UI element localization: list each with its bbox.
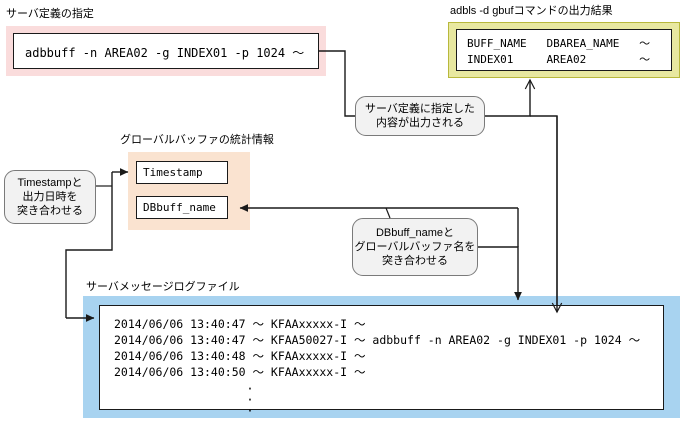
log-line: 2014/06/06 13:40:50 ～ KFAAxxxxx-I ～ — [114, 364, 640, 380]
log-line: 2014/06/06 13:40:47 ～ KFAAxxxxx-I ～ — [114, 316, 640, 332]
adbls-output-data-row: INDEX01 AREA02 ～ — [467, 51, 650, 67]
callout-server-def-output-line2: 内容が出力される — [376, 116, 464, 130]
server-definition-command: adbbuff -n AREA02 -g INDEX01 -p 1024 ～ — [25, 44, 304, 61]
ellipsis-dot: · — [237, 406, 263, 417]
gbuf-stats-timestamp-label: Timestamp — [143, 166, 203, 179]
callout-timestamp-match-line2: 出力日時を — [23, 190, 78, 204]
server-definition-box: adbbuff -n AREA02 -g INDEX01 -p 1024 ～ — [13, 33, 319, 69]
gbuf-stats-dbbuff-name-label: DBbuff_name — [143, 201, 216, 214]
callout-dbbuff-match-line1: DBbuff_nameと — [376, 226, 454, 240]
server-log-caption: サーバメッセージログファイル — [86, 281, 240, 294]
gbuf-stats-caption: グローバルバッファの統計情報 — [120, 134, 274, 147]
adbls-output-header-row: BUFF_NAME DBAREA_NAME ～ — [467, 35, 650, 51]
callout-timestamp-match-line3: 突き合わせる — [17, 204, 83, 218]
connector-log-to-adbls-riser — [530, 116, 557, 306]
gbuf-stats-dbbuff-name-box: DBbuff_name — [136, 196, 228, 219]
server-definition-caption: サーバ定義の指定 — [6, 8, 94, 21]
callout-timestamp-match: Timestampと 出力日時を 突き合わせる — [4, 170, 96, 224]
callout-dbbuff-match-line2: グローバルバッファ名を — [355, 240, 476, 254]
adbls-output-box: BUFF_NAME DBAREA_NAME ～ INDEX01 AREA02 ～ — [456, 29, 672, 71]
adbls-output-caption: adbls -d gbufコマンドの出力結果 — [450, 5, 613, 18]
callout-server-def-output-line1: サーバ定義に指定した — [365, 102, 475, 116]
server-log-continuation-ellipsis: · · · — [237, 384, 263, 417]
server-log-box: 2014/06/06 13:40:47 ～ KFAAxxxxx-I ～ 2014… — [99, 305, 664, 410]
callout-dbbuff-tail — [386, 208, 390, 218]
callout-timestamp-match-line1: Timestampと — [18, 176, 83, 190]
gbuf-stats-timestamp-box: Timestamp — [136, 161, 228, 184]
connector-callout-to-adbls — [485, 80, 530, 116]
callout-dbbuff-match: DBbuff_nameと グローバルバッファ名を 突き合わせる — [352, 218, 478, 276]
log-line: 2014/06/06 13:40:47 ～ KFAA50027-I ～ adbb… — [114, 332, 640, 348]
server-log-lines: 2014/06/06 13:40:47 ～ KFAAxxxxx-I ～ 2014… — [114, 316, 640, 380]
diagram-canvas: サーバ定義の指定 adbbuff -n AREA02 -g INDEX01 -p… — [0, 0, 687, 427]
connector-dbbuff-callout-to-log — [478, 247, 518, 300]
log-line: 2014/06/06 13:40:48 ～ KFAAxxxxx-I ～ — [114, 348, 640, 364]
callout-dbbuff-match-line3: 突き合わせる — [382, 254, 448, 268]
callout-server-def-output: サーバ定義に指定した 内容が出力される — [355, 96, 485, 136]
